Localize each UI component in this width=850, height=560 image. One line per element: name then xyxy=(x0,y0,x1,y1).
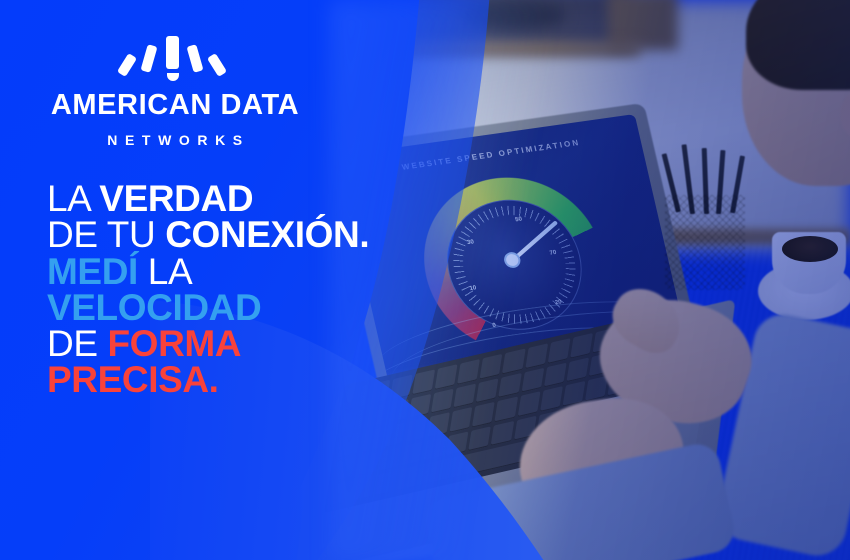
headline-la-2: LA xyxy=(138,251,192,292)
headline: LA VERDAD DE TU CONEXIÓN. MEDÍ LA VELOCI… xyxy=(47,181,467,399)
brand-tagline: NETWORKS xyxy=(40,132,310,148)
promo-banner: WEBSITE SPEED OPTIMIZATION 0 10 30 50 70… xyxy=(0,0,850,560)
headline-verdad: VERDAD xyxy=(99,178,253,219)
headline-velocidad: VELOCIDAD xyxy=(47,287,261,328)
brand-name: AMERICAN DATA xyxy=(40,91,310,120)
headline-line-2: DE TU CONEXIÓN. xyxy=(47,217,467,253)
brand-logo: AMERICAN DATA NETWORKS xyxy=(40,36,310,148)
headline-conexion: CONEXIÓN. xyxy=(165,214,369,255)
headline-la: LA xyxy=(47,178,99,219)
headline-line-3: MEDÍ LA xyxy=(47,254,467,290)
headline-forma: FORMA xyxy=(107,323,241,364)
exclamation-burst-icon xyxy=(40,36,310,84)
headline-line-6: PRECISA. xyxy=(47,362,467,398)
headline-medi: MEDÍ xyxy=(47,251,138,292)
headline-line-1: LA VERDAD xyxy=(47,181,467,217)
content-layer: AMERICAN DATA NETWORKS LA VERDAD DE TU C… xyxy=(0,0,850,560)
headline-line-5: DE FORMA xyxy=(47,326,467,362)
headline-precisa: PRECISA. xyxy=(47,359,219,400)
headline-de: DE xyxy=(47,323,107,364)
headline-de-tu: DE TU xyxy=(47,214,165,255)
headline-line-4: VELOCIDAD xyxy=(47,290,467,326)
